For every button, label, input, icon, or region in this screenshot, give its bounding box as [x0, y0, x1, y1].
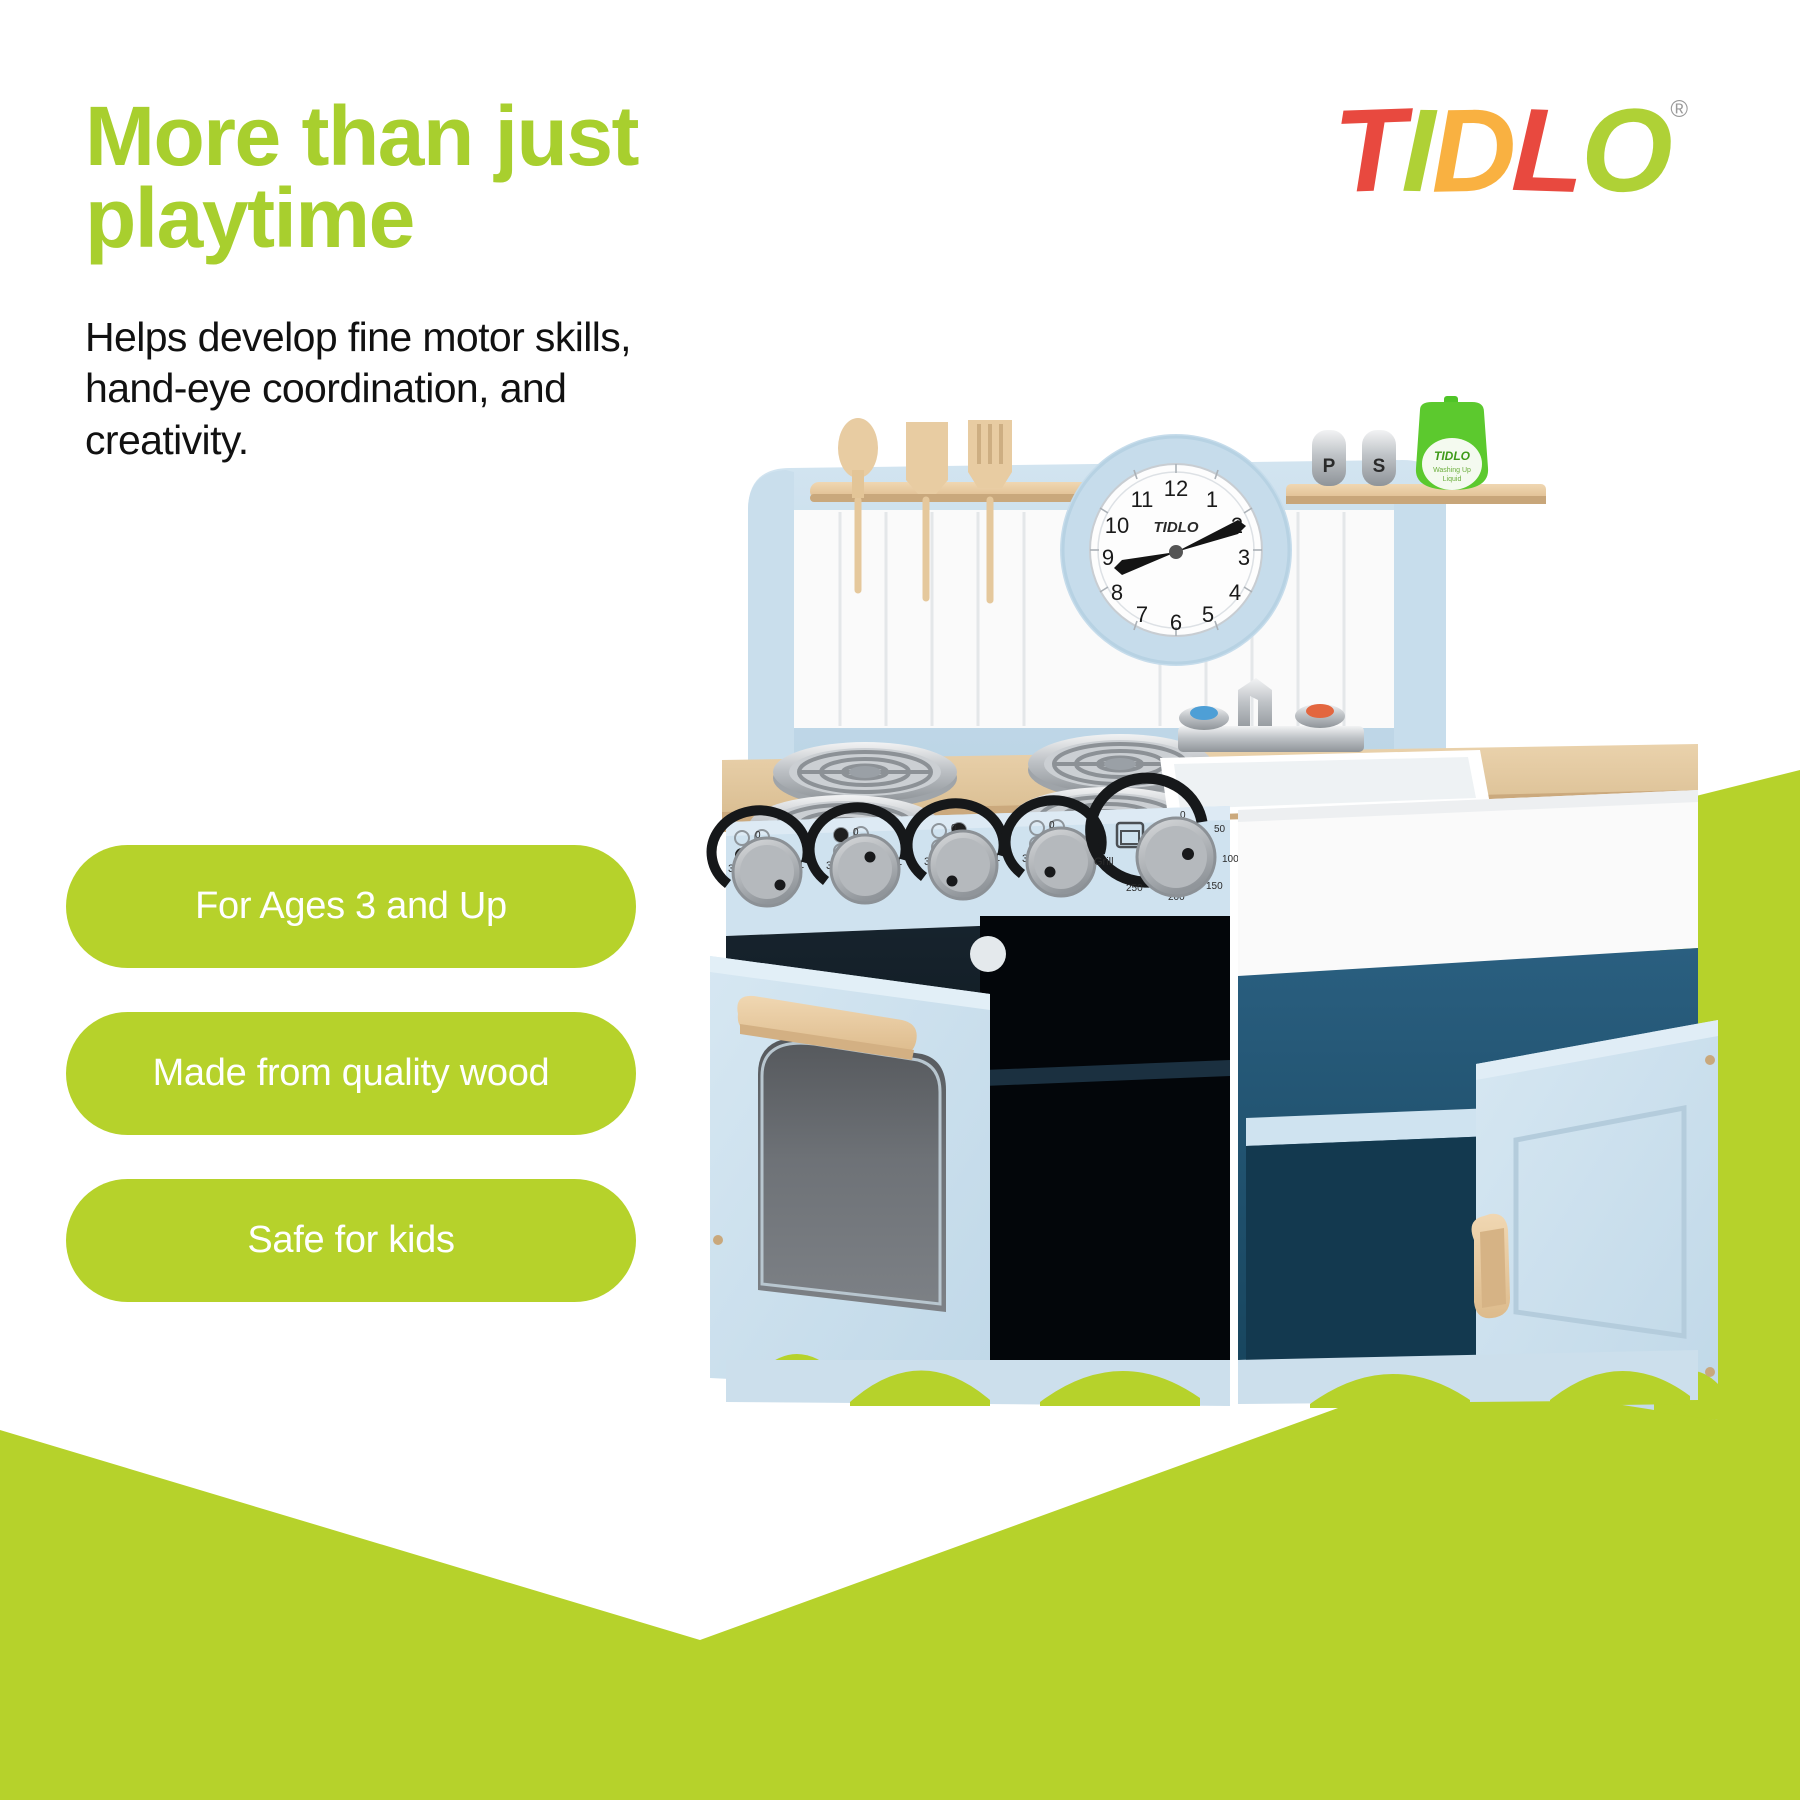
- wall-clock: 1212 345 678 91011 TIDLO: [1060, 434, 1292, 666]
- belfast-sink-front: [1238, 790, 1698, 976]
- oven-door-window: [758, 1037, 946, 1312]
- svg-text:Washing Up: Washing Up: [1433, 467, 1471, 474]
- oven-dial-grill-label: Grill: [1094, 856, 1114, 868]
- clock-brand-label: TIDLO: [1154, 519, 1199, 536]
- product-image-play-kitchen: 1212 345 678 91011 TIDLO P S TIDLO Washi…: [690, 360, 1750, 1430]
- registered-trademark-icon: ®: [1670, 98, 1688, 122]
- svg-text:10: 10: [1105, 513, 1129, 538]
- svg-text:11: 11: [1131, 487, 1154, 512]
- svg-text:6: 6: [1170, 610, 1182, 635]
- svg-text:TIDLO: TIDLO: [1434, 449, 1471, 463]
- svg-text:S: S: [1373, 456, 1386, 477]
- feature-pill-age[interactable]: For Ages 3 and Up: [66, 845, 636, 968]
- copy-column: More than just playtime Helps develop fi…: [85, 95, 785, 467]
- svg-text:4: 4: [1229, 580, 1241, 605]
- svg-text:250: 250: [1126, 883, 1143, 894]
- cabinet-door-handle[interactable]: [1472, 1214, 1510, 1318]
- utensil-spatula: [906, 422, 948, 494]
- headline-line-2: playtime: [85, 171, 414, 265]
- subheading-text: Helps develop fine motor skills, hand-ey…: [85, 312, 660, 467]
- svg-text:7: 7: [1136, 602, 1148, 627]
- svg-text:50: 50: [1214, 824, 1226, 835]
- oven-door[interactable]: [710, 956, 990, 1392]
- logo-letter-t: T: [1332, 91, 1404, 211]
- brand-logo: TIDLO ®: [1334, 92, 1688, 210]
- svg-text:3: 3: [1238, 545, 1250, 570]
- page-title: More than just playtime: [85, 95, 785, 260]
- oven-latch-knob[interactable]: [970, 936, 1006, 972]
- feature-pill-label: Safe for kids: [247, 1219, 454, 1262]
- feature-pill-safety[interactable]: Safe for kids: [66, 1179, 636, 1302]
- washing-up-liquid-bottle: TIDLO Washing Up Liquid: [1416, 396, 1488, 490]
- feature-pill-label: For Ages 3 and Up: [195, 885, 507, 928]
- svg-text:150: 150: [1206, 881, 1223, 892]
- condiment-shelf: [1286, 484, 1546, 504]
- svg-text:P: P: [1323, 456, 1336, 477]
- svg-text:9: 9: [1102, 545, 1114, 570]
- logo-letter-i: I: [1401, 92, 1432, 210]
- feature-pill-material[interactable]: Made from quality wood: [66, 1012, 636, 1135]
- svg-text:1: 1: [1206, 487, 1218, 512]
- utensil-fork: [968, 420, 1012, 488]
- svg-text:12: 12: [1164, 476, 1188, 501]
- svg-text:100: 100: [1222, 854, 1239, 865]
- tap-cold-handle[interactable]: [1179, 706, 1229, 730]
- svg-text:8: 8: [1111, 580, 1123, 605]
- tap-hot-handle[interactable]: [1295, 704, 1345, 728]
- logo-letter-l: L: [1510, 91, 1582, 211]
- pepper-shaker: P: [1312, 430, 1346, 486]
- logo-letter-d: D: [1430, 91, 1513, 210]
- svg-text:5: 5: [1202, 602, 1214, 627]
- svg-text:Liquid: Liquid: [1443, 476, 1462, 483]
- feature-pill-list: For Ages 3 and Up Made from quality wood…: [66, 845, 636, 1302]
- clock-center-pin: [1169, 545, 1183, 559]
- logo-letter-o: O: [1579, 91, 1669, 211]
- salt-shaker: S: [1362, 430, 1396, 486]
- oven-door-hinge-screw: [713, 1235, 723, 1245]
- feature-pill-label: Made from quality wood: [153, 1052, 550, 1095]
- headline-line-1: More than just: [85, 89, 638, 183]
